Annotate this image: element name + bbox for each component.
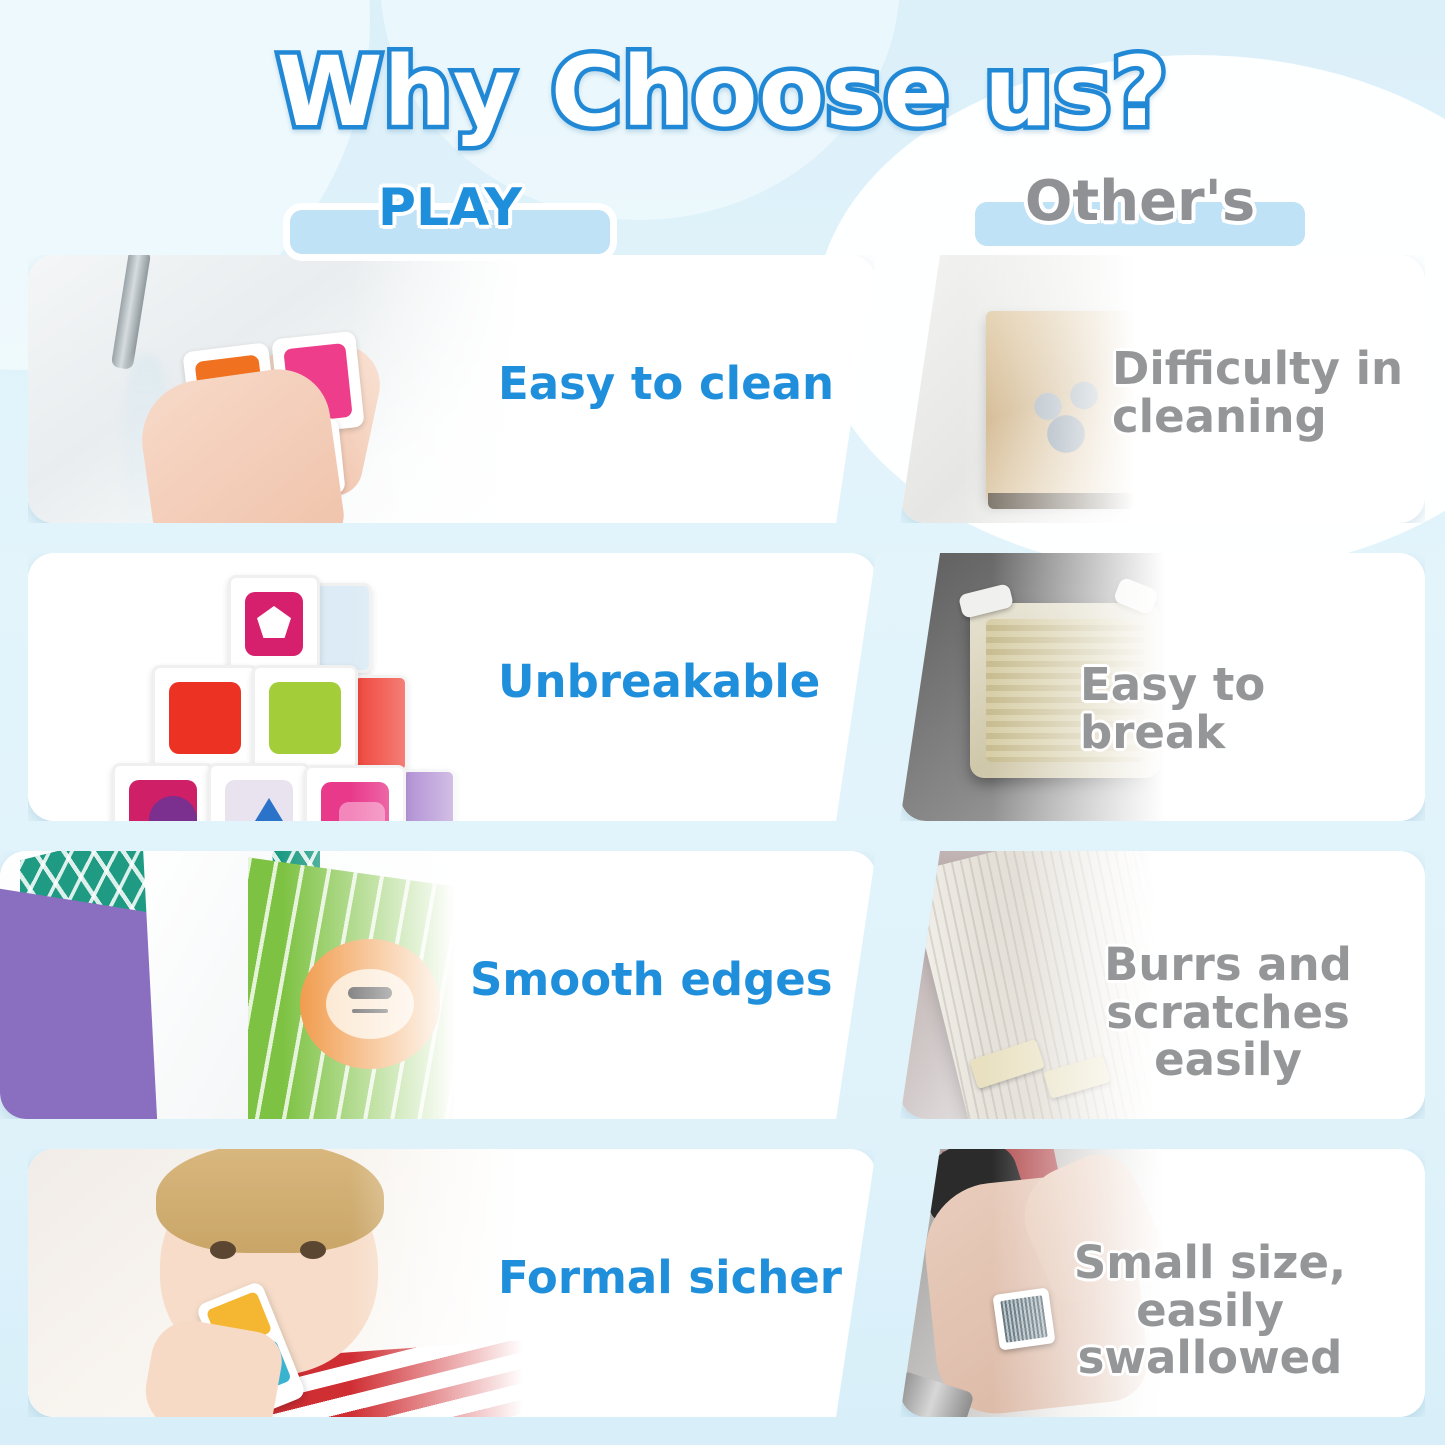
caption-easy-to-clean: Easy to clean (498, 360, 834, 408)
caption-formal-sicher: Formal sicher (498, 1254, 842, 1302)
card-other-burrs-and-scratches: Burrs and scratches easily (900, 851, 1425, 1119)
card-shell: Smooth edges (0, 851, 876, 1119)
card-play-unbreakable: Unbreakable (28, 553, 876, 821)
card-shell: Burrs and scratches easily (900, 851, 1425, 1119)
card-shell: Unbreakable (28, 553, 876, 821)
comparison-row-3: Smooth edges Burrs and scratches easily (0, 851, 1445, 1119)
card-play-smooth-edges: Smooth edges (0, 851, 876, 1119)
comparison-row-2: Unbreakable Easy to break (0, 553, 1445, 821)
caption-burrs-and-scratches: Burrs and scratches easily (1028, 941, 1425, 1084)
comparison-infographic: Why Choose us? PLAY Other's Ea (0, 0, 1445, 1445)
column-header-play: PLAY (290, 176, 610, 234)
caption-smooth-edges: Smooth edges (470, 956, 833, 1004)
caption-small-size-swallowed: Small size, easily swallowed (1000, 1239, 1420, 1382)
column-header-others-label: Other's (975, 168, 1305, 230)
comparison-row-4: Formal sicher Small size, easily swallow… (0, 1149, 1445, 1417)
card-shell: Easy to break (900, 553, 1425, 821)
caption-unbreakable: Unbreakable (498, 658, 820, 706)
column-header-others: Other's (975, 168, 1305, 230)
column-header-play-label: PLAY (290, 176, 610, 234)
caption-difficulty-in-cleaning: Difficulty in cleaning (1112, 345, 1403, 440)
card-other-small-size-swallowed: Small size, easily swallowed (900, 1149, 1425, 1417)
card-other-easy-to-break: Easy to break (900, 553, 1425, 821)
page-title-text: Why Choose us? (277, 36, 1169, 148)
comparison-row-1: Easy to clean Difficulty in cleaning (0, 255, 1445, 523)
card-shell: Easy to clean (28, 255, 876, 523)
card-play-formal-sicher: Formal sicher (28, 1149, 876, 1417)
card-other-difficulty-in-cleaning: Difficulty in cleaning (900, 255, 1425, 523)
image-toy-cube-closeup-lion-face (0, 851, 520, 1119)
card-shell: Formal sicher (28, 1149, 876, 1417)
page-title: Why Choose us? (0, 36, 1445, 148)
caption-easy-to-break: Easy to break (1080, 661, 1425, 756)
card-shell: Small size, easily swallowed (900, 1149, 1425, 1417)
card-play-easy-to-clean: Easy to clean (28, 255, 876, 523)
card-shell: Difficulty in cleaning (900, 255, 1425, 523)
